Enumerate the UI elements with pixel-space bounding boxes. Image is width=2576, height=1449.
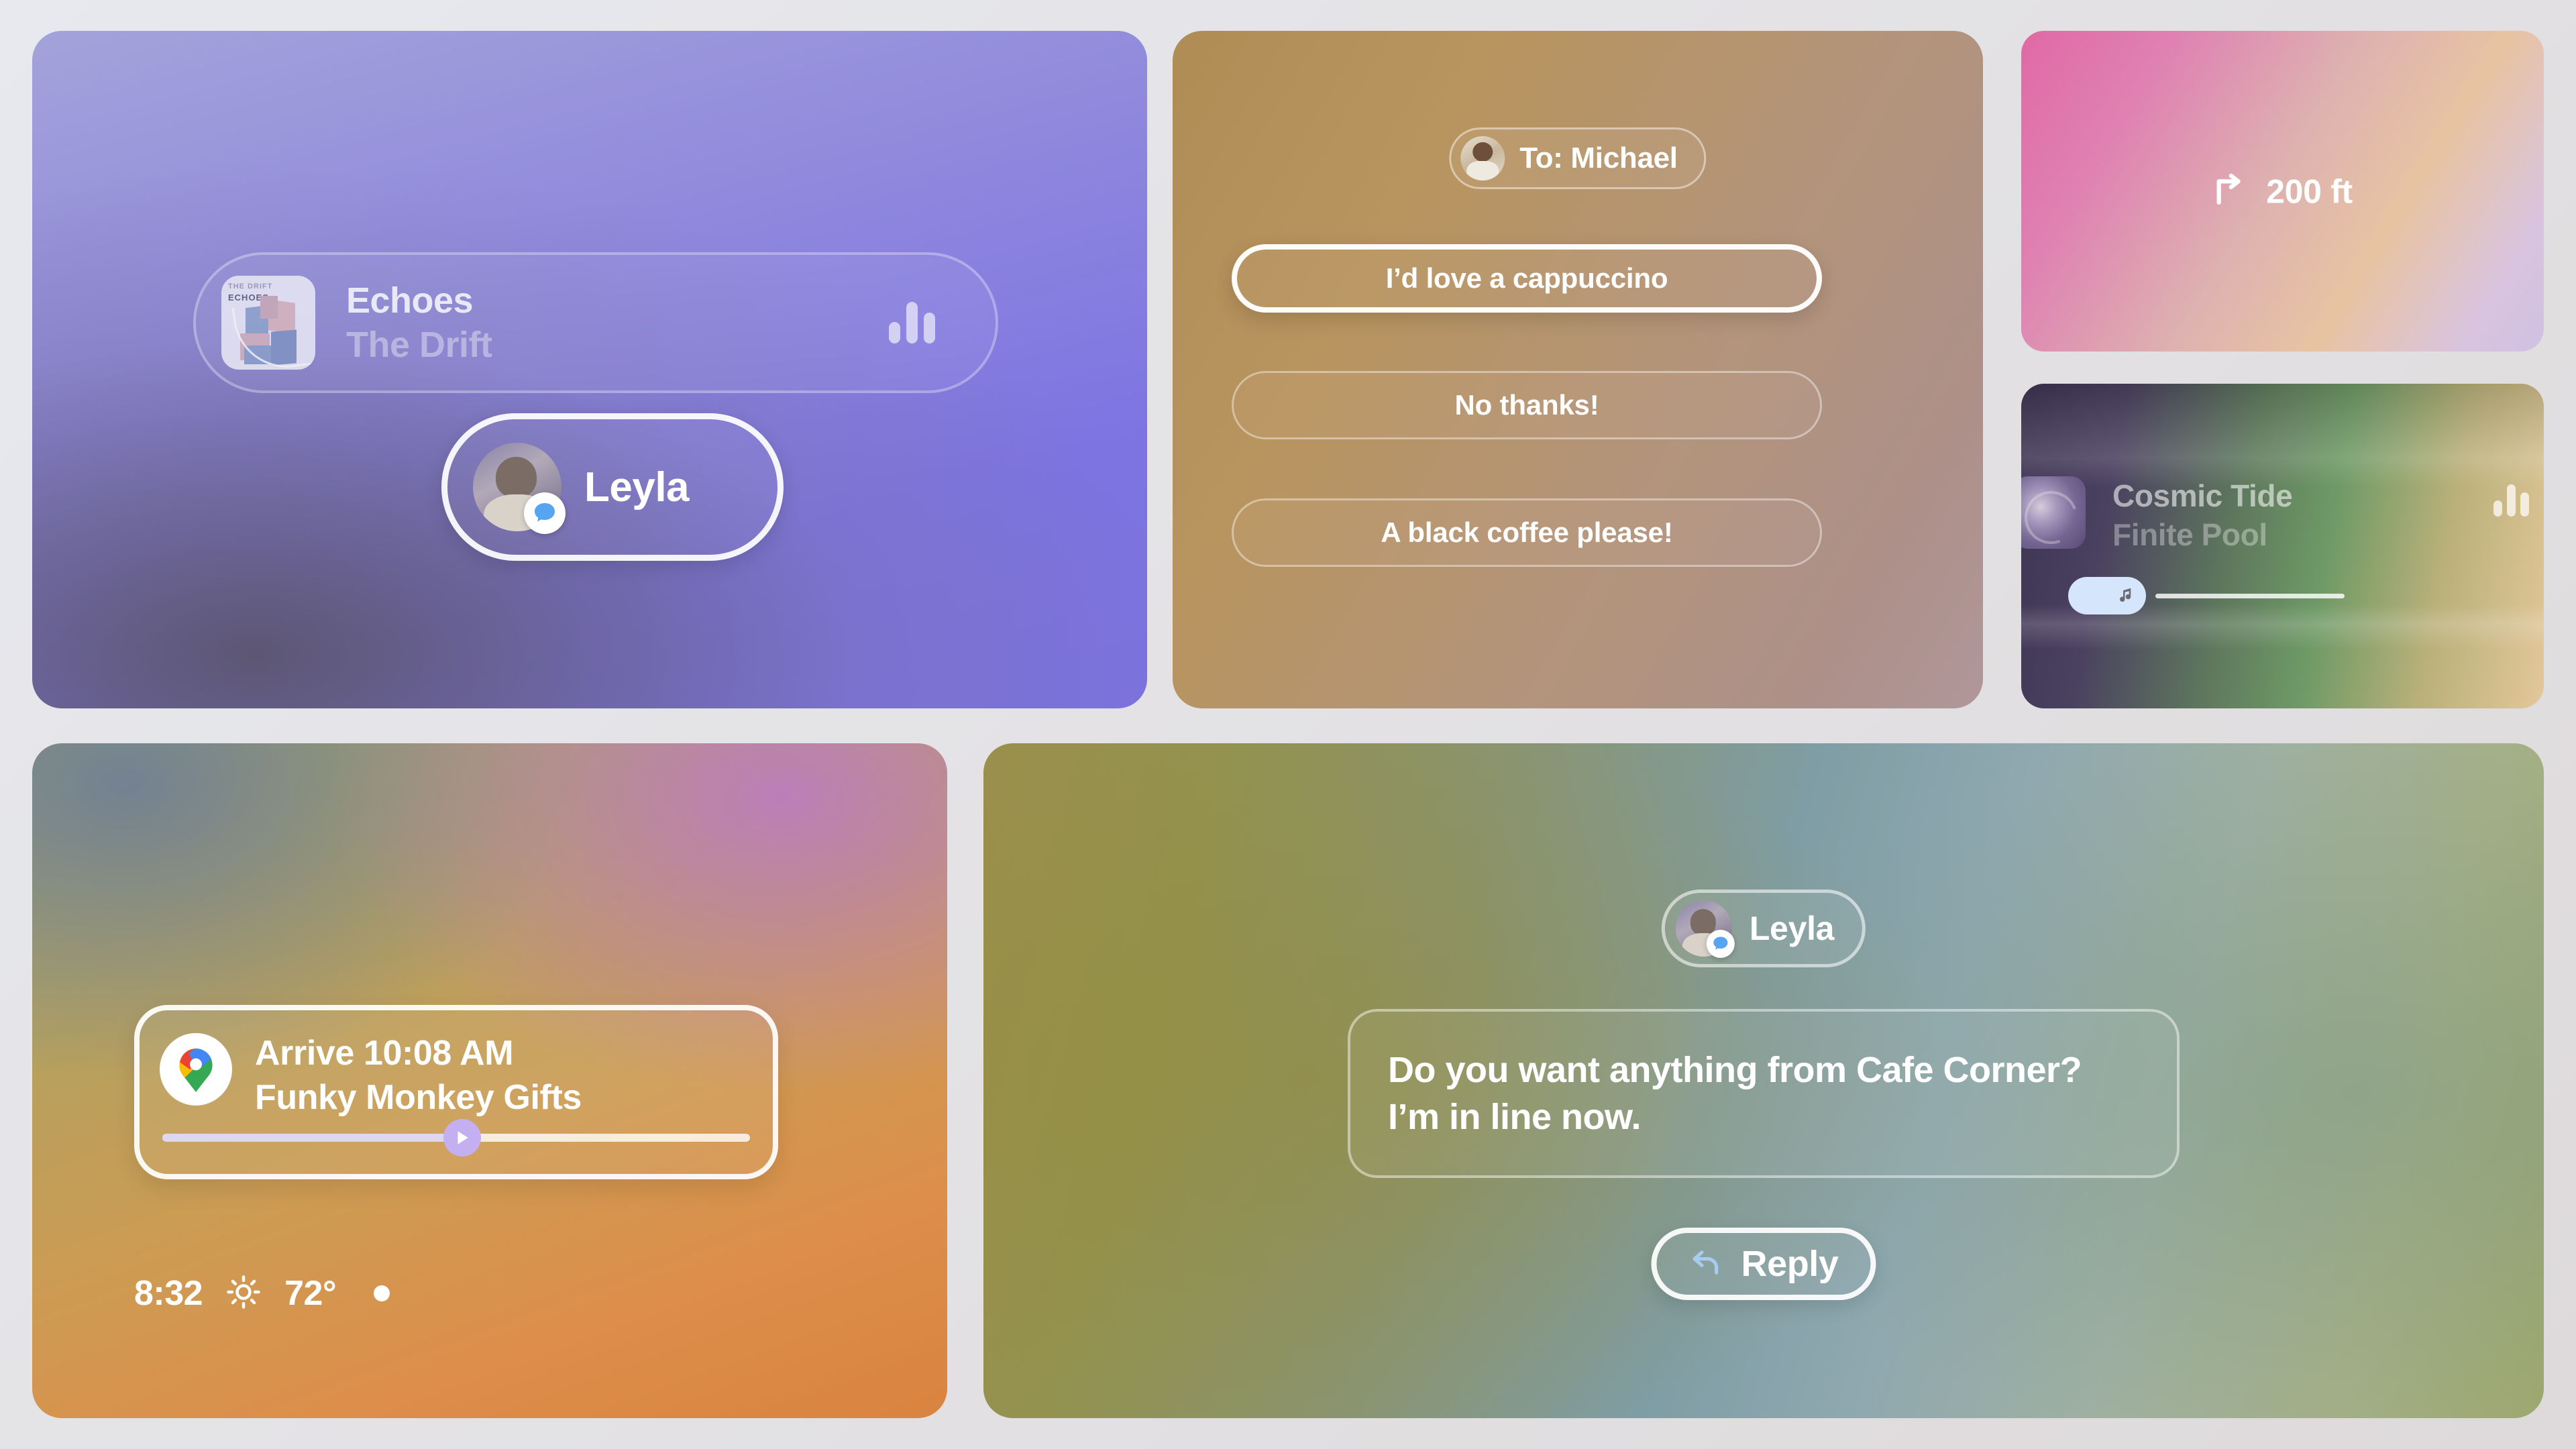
album-art: THE DRIFT ECHOES [221,276,315,370]
reply-option-2[interactable]: A black coffee please! [1232,498,1822,567]
now-playing-artist: Finite Pool [2112,517,2267,553]
eta-panel[interactable]: Arrive 10:08 AM Funky Monkey Gifts [134,1005,778,1179]
navigation-distance-card[interactable]: 200 ft [2021,31,2544,352]
album-art-label-top: THE DRIFT [228,282,272,290]
route-progress-fill [162,1134,462,1142]
now-playing-progress-bar[interactable] [2155,594,2345,598]
status-temperature: 72° [284,1273,336,1313]
music-now-playing-card[interactable]: THE DRIFT ECHOES Echoes The Drift Ley [32,31,1147,708]
navigation-row: 200 ft [2021,170,2544,213]
now-playing-mini-card[interactable]: Cosmic Tide Finite Pool [2021,384,2544,708]
reply-option-1[interactable]: No thanks! [1232,371,1822,439]
messages-app-icon [1707,930,1735,958]
avatar-leyla [1676,900,1732,957]
album-art-cosmic-tide [2021,476,2086,549]
music-player-bar[interactable]: THE DRIFT ECHOES Echoes The Drift [193,252,998,393]
reply-button[interactable]: Reply [1651,1228,1876,1300]
message-bubble: Do you want anything from Cafe Corner? I… [1348,1009,2180,1178]
incoming-message-card[interactable]: Leyla Do you want anything from Cafe Cor… [983,743,2544,1418]
status-time: 8:32 [134,1273,203,1313]
recipient-pill[interactable]: To: Michael [1449,127,1706,189]
reply-suggestions-card[interactable]: To: Michael I’d love a cappuccino No tha… [1173,31,1983,708]
reply-arrow-icon [1688,1245,1723,1283]
message-sender-name: Leyla [1750,909,1834,948]
avatar-michael [1460,136,1505,180]
reply-button-label: Reply [1741,1243,1838,1285]
now-playing-title: Cosmic Tide [2112,478,2292,514]
google-maps-pin-icon [160,1033,232,1106]
contact-leyla-pill[interactable]: Leyla [441,413,784,561]
reply-option-0[interactable]: I’d love a cappuccino [1232,244,1822,313]
messages-app-icon [524,492,566,534]
maps-eta-card[interactable]: Arrive 10:08 AM Funky Monkey Gifts 8:32 … [32,743,947,1418]
track-meta: Echoes The Drift [346,280,492,366]
eta-destination: Funky Monkey Gifts [255,1077,582,1118]
dashboard-stage: THE DRIFT ECHOES Echoes The Drift Ley [0,0,2576,1449]
music-note-icon[interactable] [2068,577,2146,614]
contact-name: Leyla [584,464,689,511]
avatar-leyla [473,443,561,531]
equalizer-bars-icon [2493,484,2529,517]
message-sender-pill[interactable]: Leyla [1662,890,1866,967]
message-text: Do you want anything from Cafe Corner? I… [1388,1046,2139,1140]
navigation-arrow-icon[interactable] [443,1119,481,1157]
equalizer-bars-icon [889,302,935,343]
eta-time: Arrive 10:08 AM [255,1033,513,1073]
turn-right-icon [2212,170,2251,213]
status-dot-icon [374,1285,390,1301]
route-progress-bar[interactable] [162,1134,750,1142]
status-row: 8:32 72° [134,1273,778,1313]
recipient-label: To: Michael [1519,142,1677,175]
navigation-distance: 200 ft [2266,172,2353,211]
track-artist: The Drift [346,324,492,366]
sun-icon [225,1274,262,1313]
card-overlay [2021,384,2544,708]
track-title: Echoes [346,280,492,321]
